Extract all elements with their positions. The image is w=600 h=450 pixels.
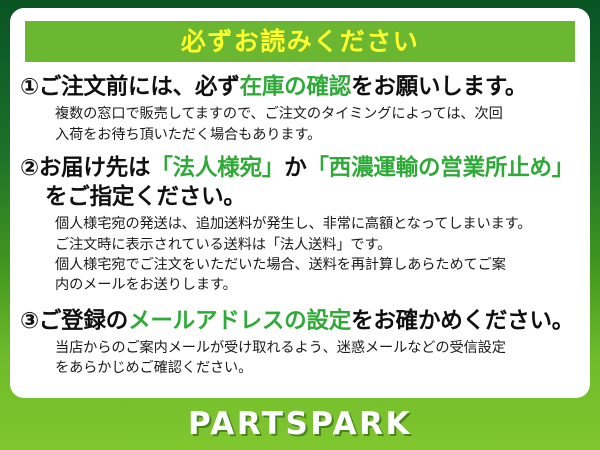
item-1-number: ① [20, 74, 39, 100]
banner-title: 必ずお読みください [181, 29, 420, 54]
item-2-subtext-line-2: ご注文時に表示されている送料は「法人送料」です。 [55, 235, 582, 255]
item-1-subtext-line-1: 複数の窓口で販売してますので、ご注文のタイミングによっては、次回 [55, 104, 582, 124]
item-2-heading: ②お届け先は「法人様宛」か「西濃運輸の営業所止め」 をご指定ください。 [20, 154, 582, 213]
item-3-heading-part-3: をお確かめください。 [351, 308, 574, 334]
item-1-subtext: 複数の窓口で販売してますので、ご注文のタイミングによっては、次回 入荷をお待ち頂… [20, 102, 582, 145]
item-1-subtext-line-2: 入荷をお待ち頂いただく場合もあります。 [55, 125, 582, 145]
item-2-heading-highlight-1: 「法人様宛」 [150, 155, 284, 181]
item-2-subtext-line-4: 内のメールをお送りします。 [55, 275, 582, 295]
item-2-number: ② [20, 155, 39, 181]
notice-item-2: ②お届け先は「法人様宛」か「西濃運輸の営業所止め」 をご指定ください。 個人様宅… [10, 154, 590, 296]
item-1-heading-part-3: をお願いします。 [351, 74, 527, 100]
notice-banner: 必ずお読みください [25, 21, 575, 62]
item-3-number: ③ [20, 308, 39, 334]
item-2-heading-part-3: か [284, 155, 306, 181]
brand-footer: PARTSPARK [0, 398, 600, 450]
item-2-subtext: 個人様宅宛の発送は、追加送料が発生し、非常に高額となってしまいます。 ご注文時に… [20, 212, 582, 295]
item-2-subtext-line-3: 個人様宅宛でご注文をいただいた場合、送料を再計算しあらためてご案 [55, 255, 582, 275]
item-1-heading: ①ご注文前には、必ず在庫の確認をお願いします。 [20, 73, 582, 102]
notice-poster: 必ずお読みください ①ご注文前には、必ず在庫の確認をお願いします。 複数の窓口で… [0, 0, 600, 450]
notice-card: 必ずお読みください ①ご注文前には、必ず在庫の確認をお願いします。 複数の窓口で… [10, 8, 590, 398]
notice-item-3: ③ご登録のメールアドレスの設定をお確かめください。 当店からのご案内メールが受け… [10, 307, 590, 379]
item-3-subtext-line-2: をあらかじめご確認ください。 [55, 358, 582, 378]
item-3-subtext-line-1: 当店からのご案内メールが受け取れるよう、迷惑メールなどの受信設定 [55, 338, 582, 358]
item-3-heading: ③ご登録のメールアドレスの設定をお確かめください。 [20, 307, 582, 336]
item-3-heading-part-1: ご登録の [39, 308, 128, 334]
item-2-heading-part-1: お届け先は [39, 155, 151, 181]
brand-logo-text: PARTSPARK [188, 409, 412, 440]
notice-item-list: ①ご注文前には、必ず在庫の確認をお願いします。 複数の窓口で販売してますので、ご… [10, 68, 590, 378]
item-2-heading-continuation: をご指定ください。 [20, 183, 582, 212]
item-2-heading-highlight-2: 「西濃運輸の営業所止め」 [307, 155, 575, 181]
item-3-heading-highlight: メールアドレスの設定 [128, 308, 351, 334]
item-1-heading-highlight: 在庫の確認 [240, 74, 352, 100]
notice-item-1: ①ご注文前には、必ず在庫の確認をお願いします。 複数の窓口で販売してますので、ご… [10, 73, 590, 145]
item-1-heading-part-1: ご注文前には、必ず [39, 74, 240, 100]
item-3-subtext: 当店からのご案内メールが受け取れるよう、迷惑メールなどの受信設定 をあらかじめご… [20, 336, 582, 379]
item-2-subtext-line-1: 個人様宅宛の発送は、追加送料が発生し、非常に高額となってしまいます。 [55, 214, 582, 234]
